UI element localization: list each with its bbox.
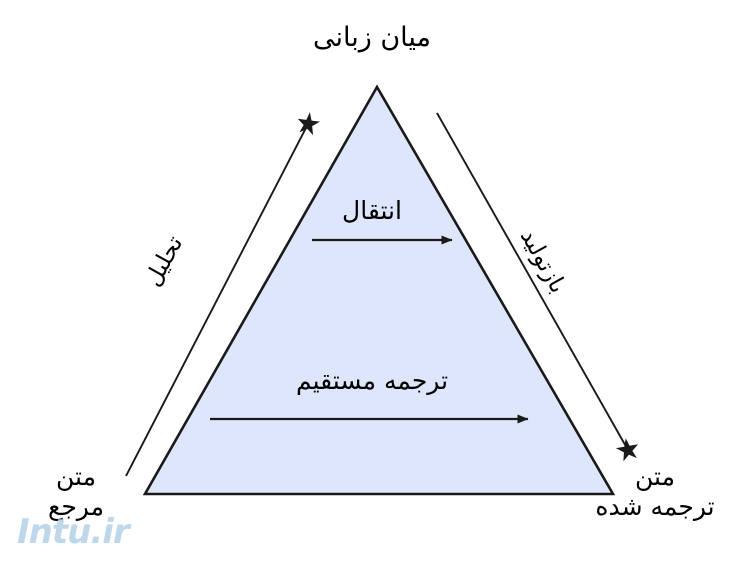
transfer-label: انتقال	[0, 196, 744, 226]
site-watermark: Intu.ir	[17, 512, 129, 552]
direct-translation-label: ترجمه مستقیم	[0, 366, 744, 396]
target-text-line-1: متن	[572, 462, 738, 492]
target-text-label: متن ترجمه شده	[572, 462, 738, 521]
vauquois-triangle-diagram: میان زبانی انتقال ترجمه مستقیم تحلیل باز…	[0, 0, 744, 563]
source-text-line-1: متن	[12, 462, 140, 492]
interlingua-label: میان زبانی	[0, 22, 744, 54]
target-text-line-2: ترجمه شده	[572, 492, 738, 522]
